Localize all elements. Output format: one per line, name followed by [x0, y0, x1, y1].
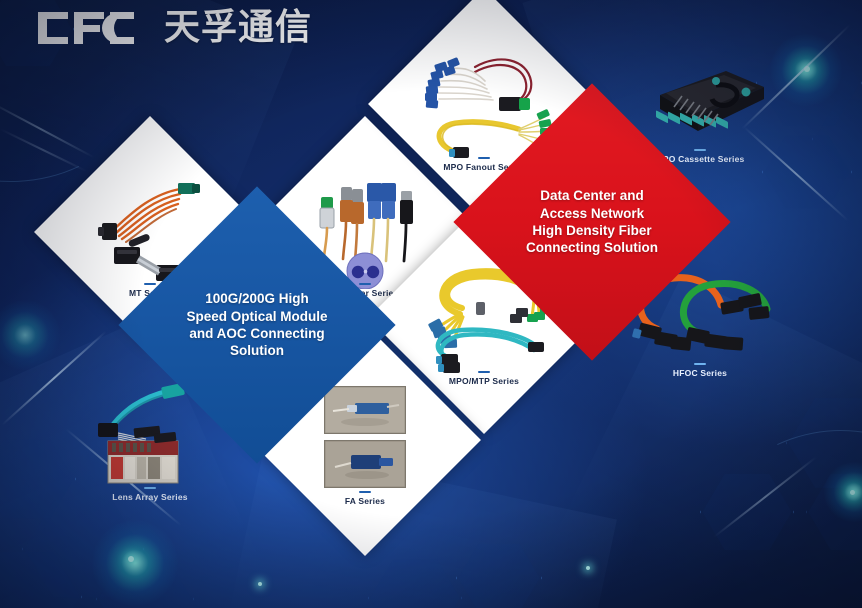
fa-photo-top: [324, 386, 406, 434]
art-mpo-cassette: [630, 47, 770, 143]
brand-chinese-name: 天孚通信: [164, 10, 312, 46]
caption-rule: [478, 157, 490, 160]
solution-red-line-2: Access Network: [502, 205, 682, 222]
solution-blue-line-2: Speed Optical Module: [165, 308, 350, 325]
caption-rule: [144, 487, 156, 490]
caption-hfoc-series: HFOC Series: [618, 363, 782, 379]
caption-text: Lens Array Series: [112, 492, 187, 502]
solution-red-text: Data Center and Access Network High Dens…: [502, 187, 682, 256]
solution-red-line-1: Data Center and: [502, 187, 682, 204]
fa-photo-bottom: [324, 440, 406, 488]
caption-rule: [359, 283, 371, 286]
solution-red-line-3: High Density Fiber: [502, 222, 682, 239]
poster-canvas: 天孚通信: [0, 0, 862, 608]
solution-blue-line-3: and AOC Connecting: [165, 325, 350, 342]
cfc-logo-icon: [36, 8, 154, 48]
art-fa-photos: [324, 386, 406, 488]
caption-rule: [694, 363, 706, 366]
caption-text: MPO/MTP Series: [449, 376, 519, 386]
solution-red-line-4: Connecting Solution: [502, 239, 682, 256]
solution-blue-line-4: Solution: [165, 342, 350, 359]
solution-blue-line-1: 100G/200G High: [165, 290, 350, 307]
solution-blue-text: 100G/200G High Speed Optical Module and …: [165, 290, 350, 359]
caption-rule: [478, 371, 490, 374]
caption-text: HFOC Series: [673, 368, 727, 378]
caption-rule: [144, 283, 156, 286]
brand-logo: 天孚通信: [36, 8, 312, 48]
caption-text: FA Series: [345, 496, 385, 506]
caption-rule: [359, 491, 371, 494]
caption-rule: [694, 149, 706, 152]
